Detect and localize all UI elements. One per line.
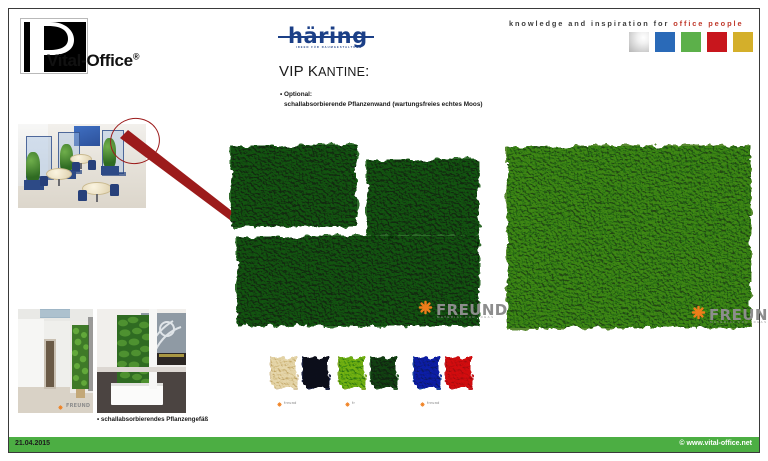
- page-title-colon: :: [365, 63, 369, 80]
- render-plant: [26, 152, 40, 182]
- brand-claim: knowledge and inspiration for office peo…: [509, 19, 743, 28]
- sample-caption-text: freund: [427, 401, 440, 405]
- freund-flower-icon: [691, 305, 706, 325]
- render-chair: [40, 176, 48, 186]
- swatch-green: [681, 32, 701, 52]
- moss-sample-pair-3: freund: [412, 354, 476, 404]
- logo-registered-mark: ®: [133, 51, 139, 61]
- freund-flower-icon: [418, 300, 433, 320]
- moss-sample-beige: [269, 354, 299, 390]
- render-chair: [78, 190, 87, 201]
- logo-wordmark-text: Vital-Office: [47, 51, 133, 70]
- photo-planter-plant-wall: [97, 309, 186, 413]
- moss-sample-forest: [369, 354, 399, 390]
- moss-sample-navy: [301, 354, 331, 390]
- haering-tagline: IDEEN FÜR RAUMGESTALTUNG: [296, 46, 362, 49]
- haering-rule: [278, 36, 374, 38]
- moss-panel-large-right: [503, 142, 755, 332]
- render-table-leg: [58, 179, 60, 186]
- slide-page: Vital-Office® häring IDEEN FÜR RAUMGESTA…: [0, 0, 768, 461]
- render-chair: [72, 162, 80, 171]
- brand-swatch-row: [629, 32, 753, 52]
- render-table-leg: [80, 163, 82, 169]
- footer-date: 21.04.2015: [15, 440, 50, 447]
- moss-sample-red: [444, 354, 474, 390]
- logo-wordmark: Vital-Office®: [47, 51, 139, 71]
- freund-tagline: MATERIAL FOR IDEAS: [437, 315, 495, 319]
- render-chair: [88, 160, 96, 170]
- swatch-silver: [629, 32, 649, 52]
- freund-watermark: FREUND MATERIAL FOR IDEAS: [691, 305, 768, 325]
- photo-caption: • schallabsorbierendes Pflanzengefäß: [97, 416, 208, 423]
- page-title-smallcaps: ANTINE: [318, 65, 365, 79]
- footer-copyright[interactable]: © www.vital-office.net: [679, 440, 752, 447]
- freund-tagline: MATERIAL FOR IDEAS: [710, 320, 768, 324]
- option-text: schallabsorbierende Pflanzenwand (wartun…: [280, 100, 483, 110]
- render-planter: [101, 166, 119, 175]
- page-title: VIP KANTINE:: [279, 63, 370, 80]
- sample-caption-text: freund: [284, 401, 297, 405]
- haering-logo: häring IDEEN FÜR RAUMGESTALTUNG: [278, 24, 374, 52]
- render-chair: [110, 184, 119, 196]
- option-note: • Optional: schallabsorbierende Pflanzen…: [280, 90, 483, 110]
- moss-sample-pair-1: freund: [269, 354, 333, 404]
- swatch-red: [707, 32, 727, 52]
- swatch-blue: [655, 32, 675, 52]
- sample-caption: fr: [345, 394, 355, 412]
- claim-text-red: office people: [673, 19, 743, 28]
- moss-panel-top-left: [228, 142, 360, 230]
- swatch-gold: [733, 32, 753, 52]
- render-table-leg: [96, 194, 98, 202]
- sample-caption: freund: [420, 394, 440, 412]
- photo-corridor-plant-wall: FREUND: [18, 309, 93, 413]
- page-title-main: VIP K: [279, 63, 318, 80]
- moss-sample-pair-2: fr: [337, 354, 401, 404]
- sample-caption: freund: [277, 394, 297, 412]
- freund-flower-icon: [277, 394, 282, 412]
- freund-flower-icon: [58, 397, 63, 413]
- moss-sample-blue: [412, 354, 442, 390]
- freund-flower-icon: [345, 394, 350, 412]
- freund-flower-icon: [420, 394, 425, 412]
- option-label: • Optional:: [280, 90, 483, 100]
- freund-watermark: FREUND: [58, 397, 90, 413]
- sample-caption-text: fr: [352, 401, 355, 405]
- moss-sample-lime: [337, 354, 367, 390]
- claim-text-dark: knowledge and inspiration for: [509, 19, 669, 28]
- freund-wordmark: FREUND: [66, 404, 90, 409]
- freund-watermark: FREUND MATERIAL FOR IDEAS: [418, 300, 508, 320]
- footer-bar: 21.04.2015 © www.vital-office.net: [9, 437, 759, 452]
